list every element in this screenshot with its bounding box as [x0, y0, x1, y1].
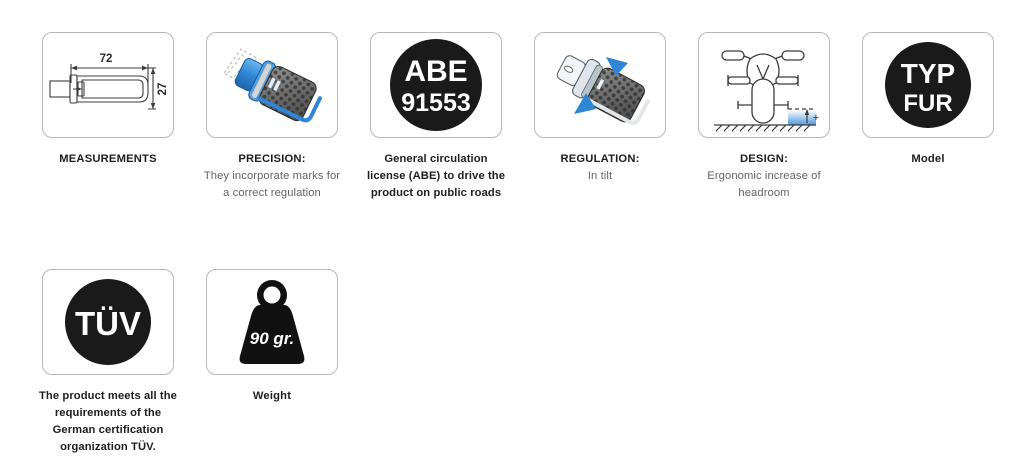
headroom-plus-label: +	[813, 112, 819, 124]
caption-abe: General circulation license (ABE) to dri…	[364, 151, 509, 202]
caption-body: They incorporate marks for a correct reg…	[200, 168, 345, 202]
tuv-badge-line1: TÜV	[75, 305, 141, 342]
caption-model: Model	[856, 151, 1001, 168]
feature-card-weight: 90 gr.	[206, 269, 338, 375]
weight-kettlebell-icon: 90 gr.	[214, 272, 330, 372]
feature-card-design: +	[698, 32, 830, 138]
tuv-certification-badge-icon: TÜV	[53, 272, 163, 372]
caption-precision: PRECISION: They incorporate marks for a …	[200, 151, 345, 202]
caption-measurements: MEASUREMENTS	[36, 151, 181, 168]
footpeg-tilt-regulation-icon	[538, 35, 662, 135]
caption-title: PRECISION:	[238, 153, 305, 165]
footpeg-measurement-drawing-icon: 72 27	[44, 33, 172, 137]
feature-cell-tuv: TÜV The product meets all the requiremen…	[42, 269, 174, 456]
feature-card-precision	[206, 32, 338, 138]
feature-grid: 72 27 MEASUREMENTS	[0, 0, 1024, 456]
feature-card-abe: ABE 91553	[370, 32, 502, 138]
weight-body	[240, 280, 305, 364]
dimension-height-label: 27	[157, 83, 169, 96]
caption-design: DESIGN: Ergonomic increase of headroom	[692, 151, 837, 202]
caption-title: MEASUREMENTS	[59, 153, 157, 165]
feature-cell-precision: PRECISION: They incorporate marks for a …	[206, 32, 338, 202]
feature-row-2: TÜV The product meets all the requiremen…	[42, 269, 1024, 456]
caption-tuv: The product meets all the requirements o…	[36, 388, 181, 456]
weight-value-label: 90 gr.	[250, 329, 294, 348]
caption-title: Model	[911, 153, 944, 165]
caption-body: Ergonomic increase of headroom	[692, 168, 837, 202]
caption-title: REGULATION:	[560, 153, 639, 165]
feature-cell-design: +	[698, 32, 830, 202]
motorcycle-rear-headroom-icon: +	[702, 35, 826, 135]
feature-card-measurements: 72 27	[42, 32, 174, 138]
abe-approval-badge-icon: ABE 91553	[377, 35, 495, 135]
feature-row-1: 72 27 MEASUREMENTS	[42, 32, 1024, 202]
caption-body: General circulation license (ABE) to dri…	[367, 153, 505, 199]
caption-title: DESIGN:	[740, 153, 788, 165]
feature-cell-measurements: 72 27 MEASUREMENTS	[42, 32, 174, 168]
dimension-width-label: 72	[100, 53, 113, 65]
feature-cell-abe: ABE 91553 General circulation license (A…	[370, 32, 502, 202]
feature-cell-weight: 90 gr. Weight	[206, 269, 338, 405]
feature-card-model: TYP FUR	[862, 32, 994, 138]
typ-fur-model-badge-icon: TYP FUR	[873, 35, 983, 135]
caption-body: The product meets all the requirements o…	[39, 390, 177, 453]
feature-card-tuv: TÜV	[42, 269, 174, 375]
model-badge-line2: FUR	[903, 90, 952, 117]
caption-title: Weight	[253, 390, 291, 402]
feature-cell-model: TYP FUR Model	[862, 32, 994, 168]
feature-card-regulation	[534, 32, 666, 138]
caption-body: In tilt	[528, 168, 673, 185]
feature-cell-regulation: REGULATION: In tilt	[534, 32, 666, 185]
abe-badge-line1: ABE	[404, 55, 467, 88]
caption-weight: Weight	[200, 388, 345, 405]
caption-regulation: REGULATION: In tilt	[528, 151, 673, 185]
abe-badge-line2: 91553	[401, 89, 471, 117]
model-badge-line1: TYP	[901, 58, 955, 89]
footpeg-precision-marks-icon	[210, 35, 334, 135]
